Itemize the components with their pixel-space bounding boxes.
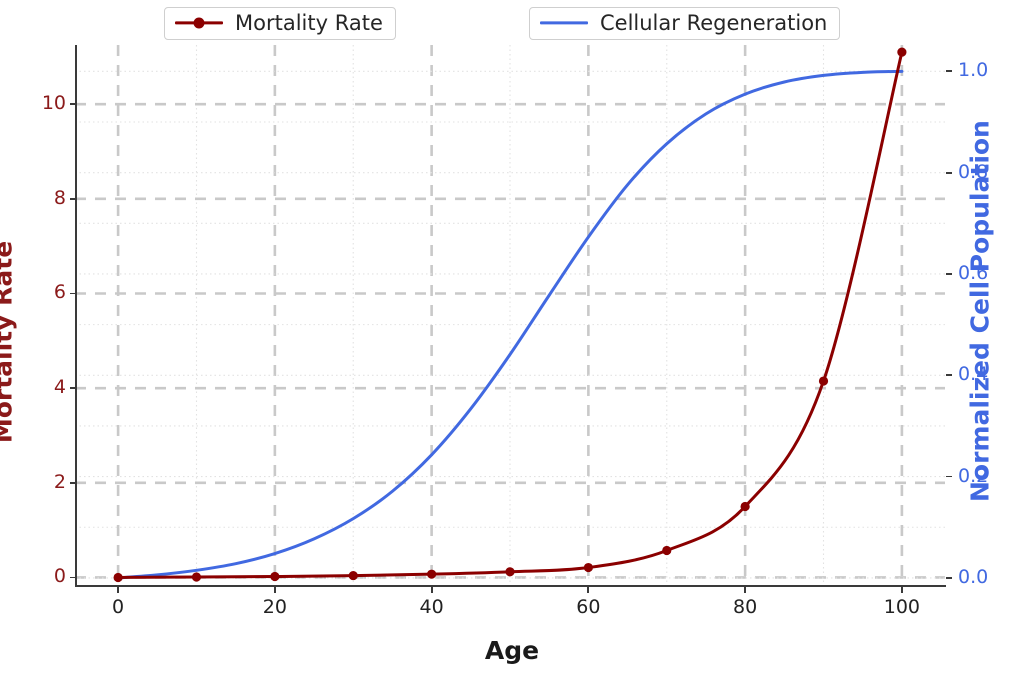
y-tick-label-left-6: 6 [10,281,66,303]
legend-mortality-rate[interactable]: Mortality Rate [164,7,396,40]
y-tick-mark-right-0.4 [946,374,952,376]
x-tick-mark-20 [274,587,276,593]
x-tick-label-80: 80 [705,596,785,618]
x-tick-mark-60 [587,587,589,593]
x-axis-title: Age [0,636,1024,665]
axis-spine-left [75,45,77,586]
x-tick-label-60: 60 [548,596,628,618]
x-tick-label-20: 20 [235,596,315,618]
y-tick-label-left-4: 4 [10,376,66,398]
data-series-layer [75,45,945,586]
y-tick-label-left-0: 0 [10,565,66,587]
x-tick-mark-0 [117,587,119,593]
y-tick-mark-left-2 [70,482,76,484]
y-tick-mark-left-0 [70,577,76,579]
legend-label-mortality: Mortality Rate [223,13,383,34]
y-axis-left-title: Mortality Rate [0,192,18,492]
x-tick-label-100: 100 [862,596,942,618]
y-tick-mark-right-0.8 [946,172,952,174]
legend-cellular-regeneration[interactable]: Cellular Regeneration [529,7,840,40]
y-tick-mark-left-8 [70,198,76,200]
y-tick-mark-right-0.2 [946,476,952,478]
chart-figure: 0246810 0.00.20.40.60.81.0 020406080100 … [0,0,1024,683]
y-tick-mark-right-0 [946,577,952,579]
legend-line-marker-icon [175,16,223,30]
y-tick-mark-right-1 [946,70,952,72]
axis-spine-bottom [75,585,946,587]
x-tick-mark-100 [901,587,903,593]
y-tick-mark-left-4 [70,387,76,389]
legend-line-icon [540,16,588,30]
legend-label-regeneration: Cellular Regeneration [588,13,827,34]
y-tick-mark-right-0.6 [946,273,952,275]
y-tick-label-left-2: 2 [10,471,66,493]
y-tick-label-right-1: 1.0 [958,59,1014,81]
x-tick-mark-40 [431,587,433,593]
x-tick-label-40: 40 [392,596,472,618]
y-axis-right-title: Normalized Cell Population [966,182,995,502]
y-tick-label-right-0: 0.0 [958,566,1014,588]
y-tick-label-left-8: 8 [10,187,66,209]
x-tick-mark-80 [744,587,746,593]
plot-area [75,45,945,585]
y-tick-label-left-10: 10 [10,92,66,114]
y-tick-mark-left-6 [70,293,76,295]
y-tick-mark-left-10 [70,103,76,105]
x-tick-label-0: 0 [78,596,158,618]
